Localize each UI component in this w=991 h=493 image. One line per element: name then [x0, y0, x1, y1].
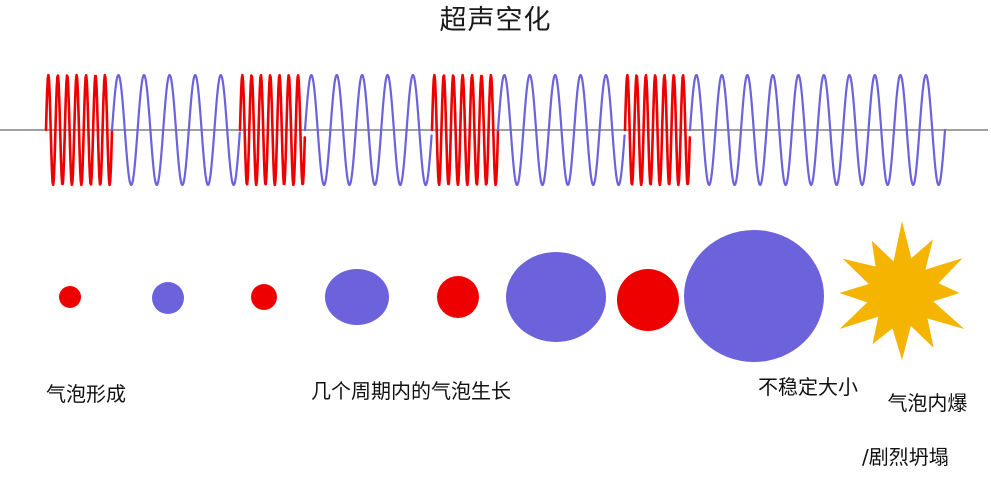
bubble-0-compression — [59, 286, 81, 308]
bubble-2-compression — [251, 284, 277, 310]
waveform-panel — [0, 55, 991, 200]
wave-segment-7-purple — [690, 75, 945, 185]
caption-bubble-formation: 气泡形成 — [46, 381, 126, 408]
wave-segment-2-red — [240, 75, 305, 185]
wave-segment-0-red — [46, 75, 112, 185]
starburst-svg — [826, 217, 978, 369]
acoustic-pressure-wave — [0, 55, 991, 200]
bubble-6-compression — [617, 269, 679, 331]
bubble-1-rarefaction — [152, 282, 184, 314]
caption-unstable-size: 不稳定大小 — [758, 374, 858, 401]
caption-implosion-line2: /剧烈坍塌 — [862, 444, 967, 471]
wave-segment-6-red — [625, 75, 690, 185]
bubble-sequence-panel — [0, 205, 991, 380]
starburst-wrapper — [826, 217, 978, 369]
wave-segment-4-red — [432, 75, 498, 185]
caption-implosion-line1: 气泡内爆 — [887, 391, 967, 415]
cavitation-diagram: 超声空化 气泡形成 几个周期内的气泡生长 不稳定大小 气泡内爆 /剧烈坍塌 — [0, 0, 991, 493]
caption-implosion: 气泡内爆 /剧烈坍塌 — [862, 363, 967, 493]
bubble-5-rarefaction — [506, 252, 606, 342]
bubble-4-compression — [437, 276, 479, 318]
caption-bubble-growth: 几个周期内的气泡生长 — [311, 378, 511, 405]
bubble-7-rarefaction — [684, 230, 824, 362]
explosion-star-icon — [839, 221, 964, 360]
bubble-3-rarefaction — [325, 269, 389, 325]
page-title: 超声空化 — [0, 4, 991, 38]
